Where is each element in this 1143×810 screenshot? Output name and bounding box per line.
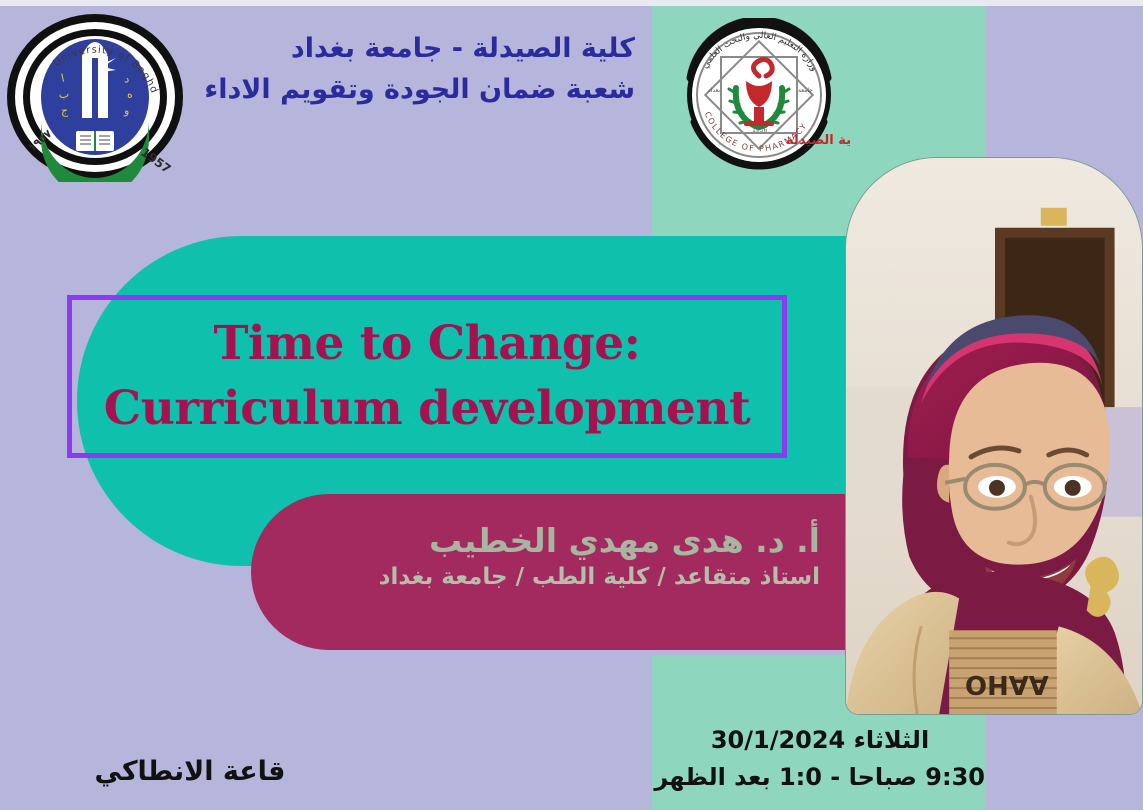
svg-text:1936: 1936 <box>752 127 767 134</box>
speaker-portrait: AAHO <box>845 157 1143 715</box>
speaker-affiliation: استاذ متقاعد / كلية الطب / جامعة بغداد <box>260 562 820 593</box>
event-venue: قاعة الانطاكي <box>60 756 320 787</box>
svg-text:كلية الصيدلة: كلية الصيدلة <box>786 133 850 148</box>
svg-text:AAHO: AAHO <box>965 669 1049 699</box>
event-poster: ا ب ج د ه و University of Baghdad <box>0 0 1143 810</box>
speaker-block: أ. د. هدى مهدي الخطيب استاذ متقاعد / كلي… <box>260 520 820 593</box>
speaker-name: أ. د. هدى مهدي الخطيب <box>260 520 820 562</box>
event-date: الثلاثاء 30/1/2024 <box>655 722 985 759</box>
svg-text:بغداد: بغداد <box>708 87 720 94</box>
svg-text:ه: ه <box>127 88 133 101</box>
header-line-college: كلية الصيدلة - جامعة بغداد <box>180 28 635 69</box>
event-datetime: الثلاثاء 30/1/2024 9:30 صباحا - 1:0 بعد … <box>655 722 985 796</box>
svg-text:ب: ب <box>58 87 69 101</box>
event-title-box: Time to Change: Curriculum development <box>67 295 787 458</box>
svg-text:جامعة: جامعة <box>798 87 813 94</box>
event-title-line-1: Time to Change: <box>213 312 640 377</box>
svg-text:ج: ج <box>61 104 69 117</box>
event-time: 9:30 صباحا - 1:0 بعد الظهر <box>655 759 985 796</box>
college-of-pharmacy-logo: وزارة التعليم العالي والبحث العلمي COLLE… <box>668 18 850 173</box>
header-line-department: شعبة ضمان الجودة وتقويم الاداء <box>180 69 635 110</box>
header-organization-text: كلية الصيدلة - جامعة بغداد شعبة ضمان الج… <box>180 28 635 110</box>
event-title-line-2: Curriculum development <box>104 377 750 442</box>
svg-text:و: و <box>123 104 129 117</box>
university-of-baghdad-logo: ا ب ج د ه و University of Baghdad <box>4 12 186 182</box>
